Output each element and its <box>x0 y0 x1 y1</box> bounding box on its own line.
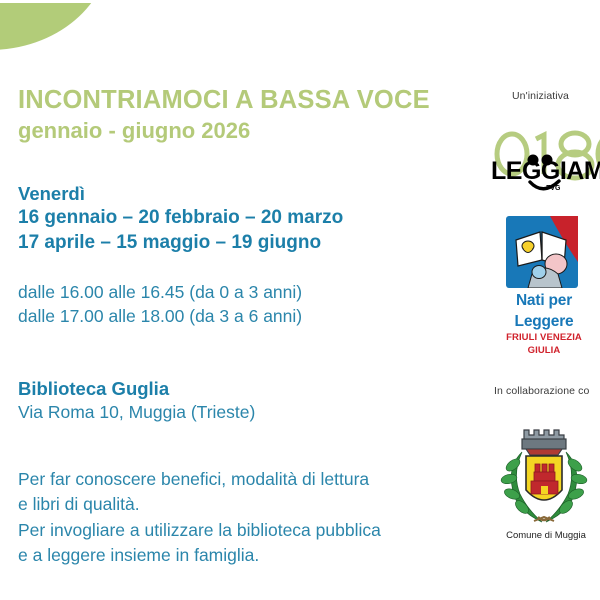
description-line-3: Per invogliare a utilizzare la bibliotec… <box>18 518 488 543</box>
green-corner-swoosh-secondary-decoration <box>0 0 110 50</box>
comune-di-muggia-logo: Comune di Muggia <box>498 418 594 541</box>
page-subtitle: gennaio - giugno 2026 <box>18 118 488 144</box>
venue-address: Via Roma 10, Muggia (Trieste) <box>18 401 488 425</box>
schedule-dates-line-2: 17 aprile – 15 maggio – 19 giugno <box>18 230 488 255</box>
nati-per-leggere-emblem-icon <box>506 216 578 288</box>
npl-region-line-1: FRIULI VENEZIA <box>506 332 582 343</box>
comune-di-muggia-crest-icon <box>498 418 590 528</box>
description-line-2: e libri di qualità. <box>18 492 488 517</box>
schedule-time-line-2: dalle 17.00 alle 18.00 (da 3 a 6 anni) <box>18 304 488 329</box>
schedule-day-label: Venerdì <box>18 182 488 206</box>
description-line-1: Per far conoscere benefici, modalità di … <box>18 467 488 492</box>
schedule-dates-line-1: 16 gennaio – 20 febbraio – 20 marzo <box>18 205 488 230</box>
schedule-dates-block: Venerdì 16 gennaio – 20 febbraio – 20 ma… <box>18 182 488 256</box>
svg-text:FVG: FVG <box>546 185 561 192</box>
npl-title-line-2: Leggere <box>506 313 582 330</box>
venue-name: Biblioteca Guglia <box>18 377 488 401</box>
description-block: Per far conoscere benefici, modalità di … <box>18 467 488 569</box>
initiative-credit-label: Un'iniziativa <box>512 90 600 102</box>
schedule-times-block: dalle 16.00 alle 16.45 (da 0 a 3 anni) d… <box>18 280 488 330</box>
poster-text-column: INCONTRIAMOCI A BASSA VOCE gennaio - giu… <box>18 86 488 568</box>
comune-caption: Comune di Muggia <box>498 530 594 541</box>
description-line-4: e a leggere insieme in famiglia. <box>18 543 488 568</box>
collaboration-credit-label: In collaborazione co <box>494 385 600 397</box>
logo-column: Un'iniziativa LEGGIAMO <box>490 0 600 600</box>
poster-canvas: INCONTRIAMOCI A BASSA VOCE gennaio - giu… <box>0 0 600 600</box>
schedule-time-line-1: dalle 16.00 alle 16.45 (da 0 a 3 anni) <box>18 280 488 305</box>
leggiamo-fvg-logo: LEGGIAMO FVG <box>490 126 600 194</box>
page-title: INCONTRIAMOCI A BASSA VOCE <box>18 86 488 115</box>
npl-region-line-2: GIULIA <box>506 345 582 356</box>
npl-title-line-1: Nati per <box>506 292 582 309</box>
nati-per-leggere-logo: Nati per Leggere FRIULI VENEZIA GIULIA <box>506 216 582 357</box>
venue-block: Biblioteca Guglia Via Roma 10, Muggia (T… <box>18 377 488 425</box>
